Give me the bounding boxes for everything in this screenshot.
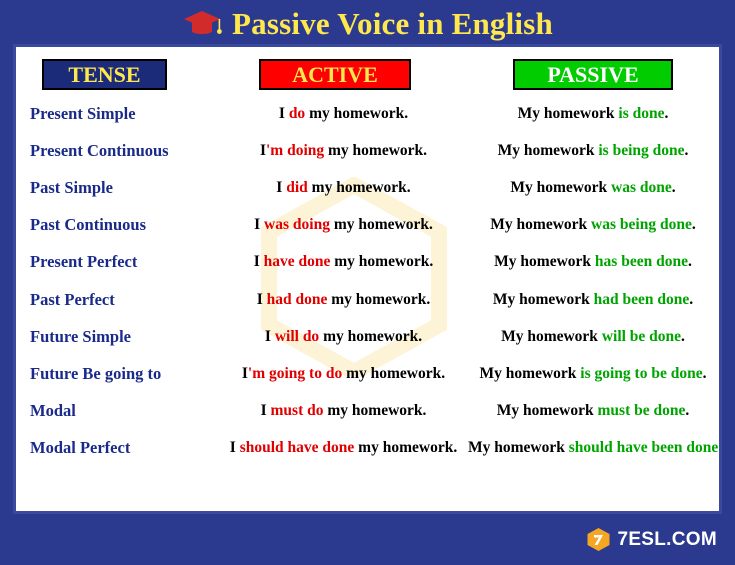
tense-label: Past Continuous bbox=[30, 215, 220, 235]
table-row: Past SimpleI did my homework.My homework… bbox=[16, 169, 719, 206]
passive-sentence: My homework was being done. bbox=[468, 216, 718, 234]
sentence-fragment: 'm doing bbox=[266, 142, 324, 159]
sentence-fragment: my homework. bbox=[330, 216, 433, 233]
table-row: Modal PerfectI should have done my homew… bbox=[16, 430, 719, 467]
tense-label: Present Perfect bbox=[30, 252, 220, 272]
active-sentence: I should have done my homework. bbox=[216, 439, 471, 457]
table-row: Past ContinuousI was doing my homework.M… bbox=[16, 207, 719, 244]
sentence-fragment: my homework. bbox=[319, 328, 422, 345]
passive-sentence: My homework is being done. bbox=[468, 142, 718, 160]
sentence-fragment: should have been done bbox=[569, 439, 718, 456]
sentence-fragment: My homework bbox=[493, 291, 594, 308]
sentence-fragment: my homework. bbox=[330, 253, 433, 270]
sentence-fragment: is being done bbox=[598, 142, 684, 159]
passive-sentence: My homework has been done. bbox=[468, 253, 718, 271]
sentence-fragment: . bbox=[664, 105, 668, 122]
sentence-fragment: was doing bbox=[264, 216, 330, 233]
table-row: Present SimpleI do my homework.My homewo… bbox=[16, 95, 719, 132]
sentence-fragment: 'm going to do bbox=[248, 365, 342, 382]
sentence-fragment: my homework. bbox=[354, 439, 457, 456]
sentence-fragment: My homework bbox=[490, 216, 591, 233]
sentence-fragment: My homework bbox=[501, 328, 602, 345]
active-sentence: I had done my homework. bbox=[216, 291, 471, 309]
passive-sentence: My homework will be done. bbox=[468, 328, 718, 346]
sentence-fragment: . bbox=[689, 291, 693, 308]
passive-sentence: My homework must be done. bbox=[468, 402, 718, 420]
table-row: Future Be going toI'm going to do my hom… bbox=[16, 355, 719, 392]
sentence-fragment: . bbox=[688, 253, 692, 270]
sentence-fragment: must be done bbox=[598, 402, 686, 419]
sentence-fragment: My homework bbox=[497, 402, 598, 419]
sentence-fragment: I bbox=[254, 216, 264, 233]
sentence-fragment: My homework bbox=[518, 105, 619, 122]
active-sentence: I'm doing my homework. bbox=[216, 142, 471, 160]
sentence-fragment: I bbox=[276, 179, 286, 196]
sentence-fragment: I bbox=[261, 402, 271, 419]
passive-sentence: My homework is done. bbox=[468, 105, 718, 123]
tense-label: Modal Perfect bbox=[30, 438, 220, 458]
sentence-fragment: is done bbox=[618, 105, 664, 122]
active-sentence: I must do my homework. bbox=[216, 402, 471, 420]
sentence-fragment: . bbox=[692, 216, 696, 233]
sentence-fragment: My homework bbox=[480, 365, 581, 382]
sentence-fragment: my homework. bbox=[324, 142, 427, 159]
column-header-tense: TENSE bbox=[42, 59, 167, 90]
active-sentence: I will do my homework. bbox=[216, 328, 471, 346]
sentence-fragment: my homework. bbox=[324, 402, 427, 419]
passive-sentence: My homework had been done. bbox=[468, 291, 718, 309]
active-sentence: I did my homework. bbox=[216, 179, 471, 197]
brand-logo: 7ESL.COM bbox=[586, 527, 717, 552]
table-board: TENSE ACTIVE PASSIVE Present SimpleI do … bbox=[13, 44, 722, 514]
sentence-fragment: I bbox=[279, 105, 289, 122]
sentence-fragment: I bbox=[265, 328, 275, 345]
sentence-fragment: should have done bbox=[240, 439, 355, 456]
active-sentence: I was doing my homework. bbox=[216, 216, 471, 234]
sentence-fragment: is going to be done bbox=[580, 365, 702, 382]
sentence-fragment: . bbox=[703, 365, 707, 382]
sentence-fragment: . bbox=[718, 439, 722, 456]
sentence-fragment: . bbox=[685, 142, 689, 159]
sentence-fragment: my homework. bbox=[305, 105, 408, 122]
table-row: ModalI must do my homework.My homework m… bbox=[16, 393, 719, 430]
graduation-cap-icon bbox=[182, 9, 222, 39]
sentence-fragment: my homework. bbox=[327, 291, 430, 308]
tense-label: Present Simple bbox=[30, 104, 220, 124]
sentence-fragment: My homework bbox=[494, 253, 595, 270]
sentence-fragment: have done bbox=[264, 253, 331, 270]
tense-label: Future Simple bbox=[30, 327, 220, 347]
table-row: Past PerfectI had done my homework.My ho… bbox=[16, 281, 719, 318]
active-sentence: I do my homework. bbox=[216, 105, 471, 123]
tense-label: Modal bbox=[30, 401, 220, 421]
sentence-fragment: did bbox=[286, 179, 308, 196]
column-header-passive: PASSIVE bbox=[513, 59, 673, 90]
passive-sentence: My homework is going to be done. bbox=[468, 365, 718, 383]
active-sentence: I'm going to do my homework. bbox=[216, 365, 471, 383]
page-header: Passive Voice in English bbox=[0, 0, 735, 46]
tense-label: Future Be going to bbox=[30, 364, 220, 384]
sentence-fragment: will do bbox=[275, 328, 319, 345]
sentence-fragment: do bbox=[289, 105, 305, 122]
sentence-fragment: I bbox=[254, 253, 264, 270]
table-row: Future SimpleI will do my homework.My ho… bbox=[16, 318, 719, 355]
passive-sentence: My homework should have been done. bbox=[468, 439, 718, 457]
infographic-page: Passive Voice in English TENSE ACTIVE PA… bbox=[0, 0, 735, 565]
sentence-fragment: had been done bbox=[594, 291, 690, 308]
sentence-fragment: I bbox=[257, 291, 267, 308]
table-header-row: TENSE ACTIVE PASSIVE bbox=[16, 47, 719, 93]
tense-label: Past Perfect bbox=[30, 290, 220, 310]
tense-label: Past Simple bbox=[30, 178, 220, 198]
sentence-fragment: must do bbox=[271, 402, 324, 419]
sentence-fragment: my homework. bbox=[342, 365, 445, 382]
sentence-fragment: . bbox=[681, 328, 685, 345]
sentence-fragment: I bbox=[230, 439, 240, 456]
sentence-fragment: . bbox=[685, 402, 689, 419]
sentence-fragment: My homework bbox=[468, 439, 569, 456]
table-row: Present ContinuousI'm doing my homework.… bbox=[16, 132, 719, 169]
table-body: Present SimpleI do my homework.My homewo… bbox=[16, 93, 719, 467]
sentence-fragment: was done bbox=[611, 179, 672, 196]
tense-label: Present Continuous bbox=[30, 141, 220, 161]
passive-sentence: My homework was done. bbox=[468, 179, 718, 197]
brand-text: 7ESL.COM bbox=[617, 529, 717, 551]
sentence-fragment: My homework bbox=[498, 142, 599, 159]
sentence-fragment: my homework. bbox=[308, 179, 411, 196]
sentence-fragment: was being done bbox=[591, 216, 692, 233]
sentence-fragment: . bbox=[672, 179, 676, 196]
table-row: Present PerfectI have done my homework.M… bbox=[16, 244, 719, 281]
sentence-fragment: will be done bbox=[602, 328, 681, 345]
column-header-active: ACTIVE bbox=[259, 59, 411, 90]
page-footer: 7ESL.COM bbox=[0, 514, 735, 565]
seven-esl-logo-icon bbox=[586, 527, 611, 552]
sentence-fragment: has been done bbox=[595, 253, 688, 270]
active-sentence: I have done my homework. bbox=[216, 253, 471, 271]
sentence-fragment: had done bbox=[267, 291, 328, 308]
page-title: Passive Voice in English bbox=[232, 6, 553, 42]
sentence-fragment: My homework bbox=[510, 179, 611, 196]
